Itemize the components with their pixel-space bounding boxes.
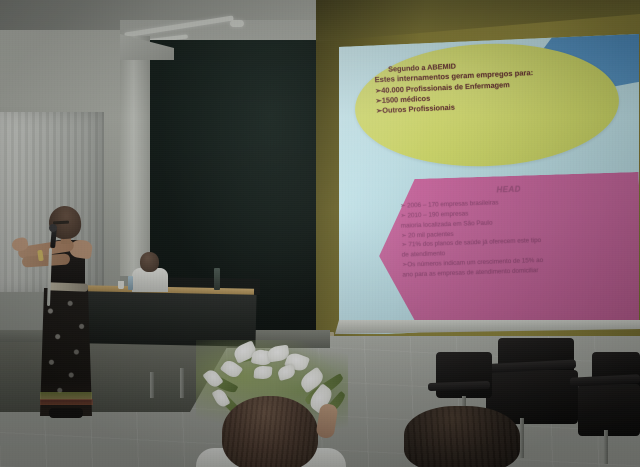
projection-screen: Segundo a ABEMID Estes internamentos ger… — [339, 34, 639, 334]
auditorium-chair-leg — [520, 418, 524, 458]
drinking-cup — [118, 281, 124, 289]
slide-pentagon-text: HEAD ➣ 2006 – 170 empresas brasileiras ➣… — [400, 180, 621, 280]
head-table-body — [83, 291, 256, 347]
auditorium-chair-seat-2 — [578, 384, 640, 436]
foreground-audience-right-hair-texture — [404, 406, 520, 467]
table-support-leg-2 — [150, 372, 154, 398]
table-support-leg — [180, 368, 184, 398]
conference-presentation-photo: Segundo a ABEMID Estes internamentos ger… — [0, 0, 640, 467]
slide-ellipse-text: Segundo a ABEMID Estes internamentos ger… — [374, 55, 606, 117]
foreground-audience-center-hair-texture — [222, 396, 318, 467]
water-bottle-dark — [214, 268, 220, 290]
auditorium-chair-leg-2 — [604, 430, 608, 464]
presenter-belt — [48, 282, 88, 291]
microphone-icon — [49, 224, 57, 232]
auditorium-chair-back-3 — [436, 352, 492, 398]
presenter-skirt-hem-red — [40, 399, 93, 405]
ceiling-light-endcap — [230, 20, 244, 27]
water-bottle — [128, 276, 133, 290]
presenter-shoes — [49, 408, 83, 418]
wall-pillar — [120, 36, 150, 276]
seated-person-head — [140, 252, 159, 272]
